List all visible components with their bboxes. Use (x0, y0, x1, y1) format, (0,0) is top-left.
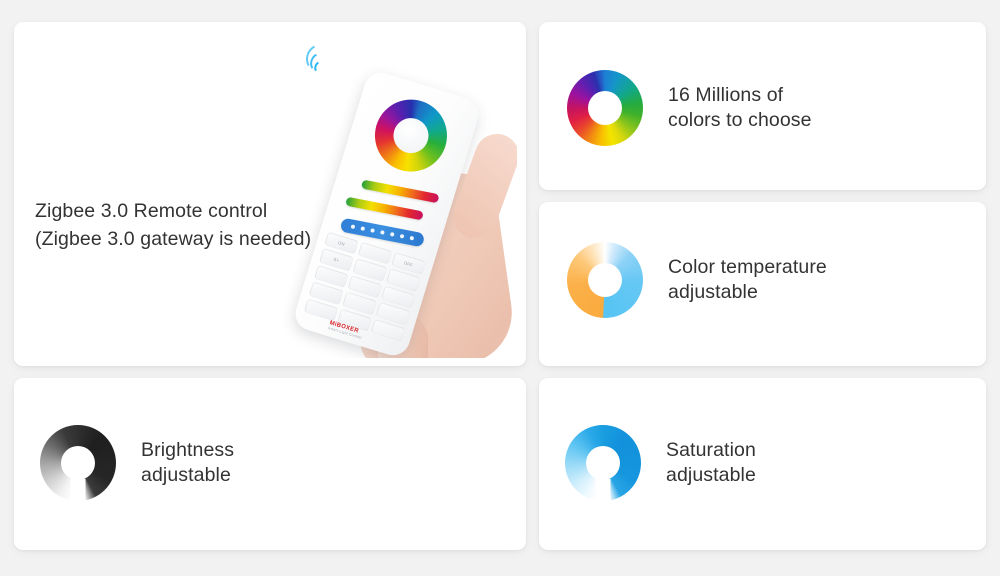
wifi-signal-icon (297, 28, 351, 81)
ring-hole (61, 446, 95, 480)
feature-row: Saturation adjustable (565, 425, 756, 501)
feature-grid: Zigbee 3.0 Remote control (Zigbee 3.0 ga… (0, 0, 1000, 576)
zone-dot (410, 236, 415, 241)
brightness-feature-text: Brightness adjustable (141, 438, 234, 489)
zone-dot (351, 224, 356, 229)
saturation-card: Saturation adjustable (539, 378, 986, 550)
ring-hole (588, 263, 622, 297)
color-wheel-touch-pad (366, 91, 456, 181)
zone-dot (400, 234, 405, 239)
16-million-colors-card: 16 Millions of colors to choose (539, 22, 986, 190)
saturation-feature-text: Saturation adjustable (666, 438, 756, 489)
remote-keypad: ON OFF S+ (304, 232, 426, 342)
remote-control-illustration: ON OFF S+ (232, 28, 517, 358)
colors-feature-text: 16 Millions of colors to choose (668, 83, 812, 134)
brightness-ring-icon (40, 425, 116, 501)
ring-hole (588, 91, 622, 125)
zone-dot (360, 226, 365, 231)
ring-notch (596, 479, 611, 502)
saturation-ring-icon (565, 425, 641, 501)
zigbee-remote-card: Zigbee 3.0 Remote control (Zigbee 3.0 ga… (14, 22, 526, 366)
feature-row: Color temperature adjustable (567, 242, 827, 318)
color-temperature-ring-icon (567, 242, 643, 318)
wifi-arc-outer (302, 40, 339, 77)
feature-row: Brightness adjustable (40, 425, 234, 501)
zone-dot (380, 230, 385, 235)
brightness-card: Brightness adjustable (14, 378, 526, 550)
ring-notch (71, 479, 86, 502)
cct-feature-text: Color temperature adjustable (668, 255, 827, 306)
wheel-center-button (389, 114, 433, 158)
color-wheel-icon (567, 70, 643, 146)
ring-hole (586, 446, 620, 480)
color-temperature-card: Color temperature adjustable (539, 202, 986, 366)
zone-dot (370, 228, 375, 233)
rainbow-slider-bottom (345, 197, 423, 221)
zone-dot (390, 232, 395, 237)
rainbow-slider-top (361, 180, 439, 204)
feature-row: 16 Millions of colors to choose (567, 70, 812, 146)
